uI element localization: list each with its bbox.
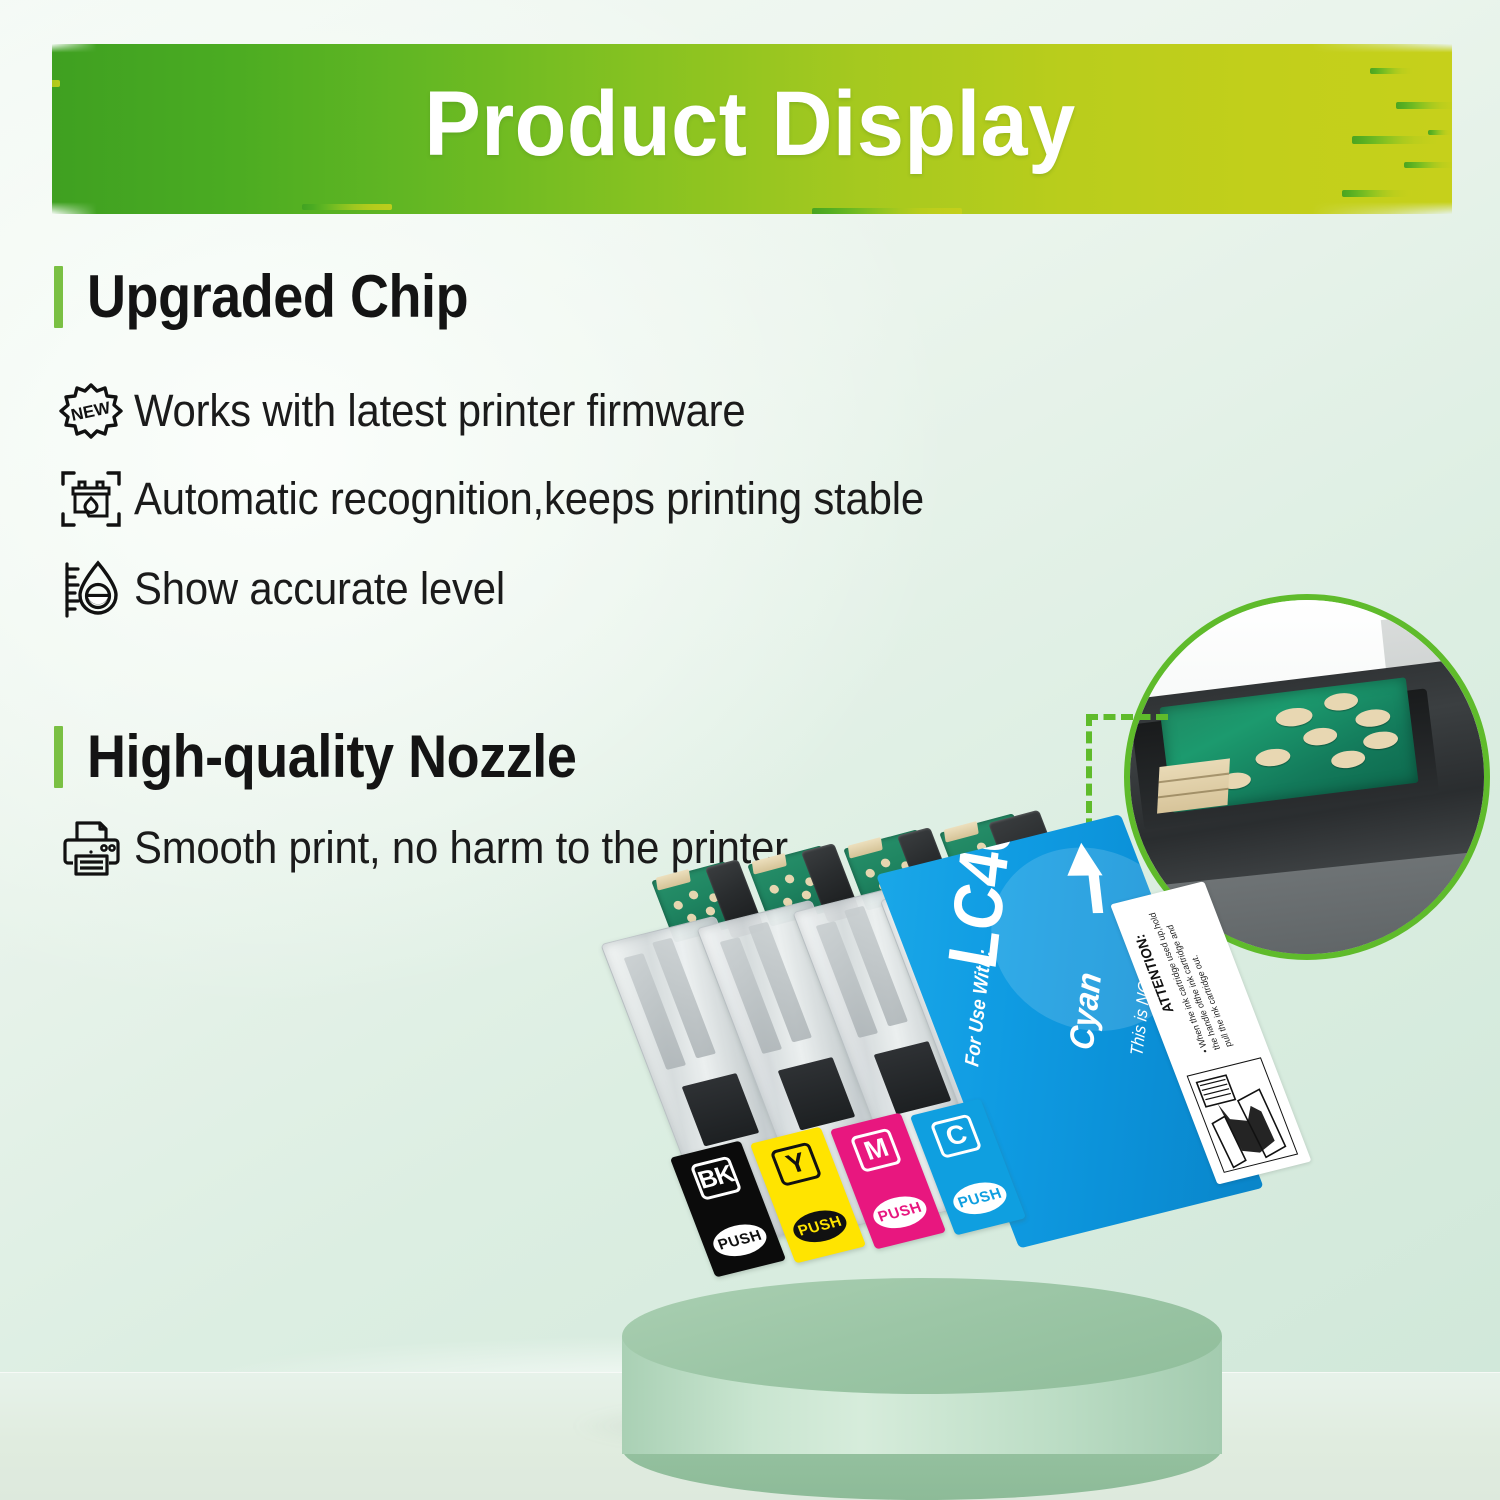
printer-icon (48, 818, 134, 878)
banner: Product Display (0, 26, 1500, 231)
color-code: C (929, 1113, 982, 1159)
feature-row: NEW Works with latest printer firmware (48, 382, 792, 440)
color-code: BK (689, 1155, 742, 1201)
section-title: High-quality Nozzle (87, 722, 576, 791)
feature-text: Show accurate level (134, 563, 505, 615)
feature-row: Automatic recognition,keeps printing sta… (48, 468, 983, 530)
accent-bar (54, 266, 63, 328)
feature-row: Show accurate level (48, 558, 533, 620)
push-label: PUSH (948, 1177, 1011, 1219)
feature-text: Works with latest printer firmware (134, 385, 746, 437)
section-heading-upgraded-chip: Upgraded Chip (54, 262, 511, 331)
color-code: M (849, 1127, 902, 1173)
cartridge-scan-icon (48, 468, 134, 530)
svg-text:NEW: NEW (69, 398, 113, 425)
push-label: PUSH (708, 1219, 771, 1261)
page-title: Product Display (60, 78, 1440, 170)
accent-bar (54, 726, 63, 788)
feature-text: Automatic recognition,keeps printing sta… (134, 473, 924, 525)
connector-horizontal (1086, 714, 1168, 720)
ink-cartridge-set: For Use With: LC401XL Cyan This is NOT a… (640, 845, 1240, 1325)
color-code: Y (769, 1141, 822, 1187)
new-badge-icon: NEW (48, 382, 134, 440)
section-heading-high-quality-nozzle: High-quality Nozzle (54, 722, 631, 791)
product-color-name: Cyan (1061, 969, 1109, 1053)
ink-level-droplet-icon (48, 558, 134, 620)
push-label: PUSH (868, 1191, 931, 1233)
push-label: PUSH (788, 1205, 851, 1247)
product-display-page: Product Display Upgraded Chip NEW Works … (0, 0, 1500, 1500)
section-title: Upgraded Chip (87, 262, 468, 331)
